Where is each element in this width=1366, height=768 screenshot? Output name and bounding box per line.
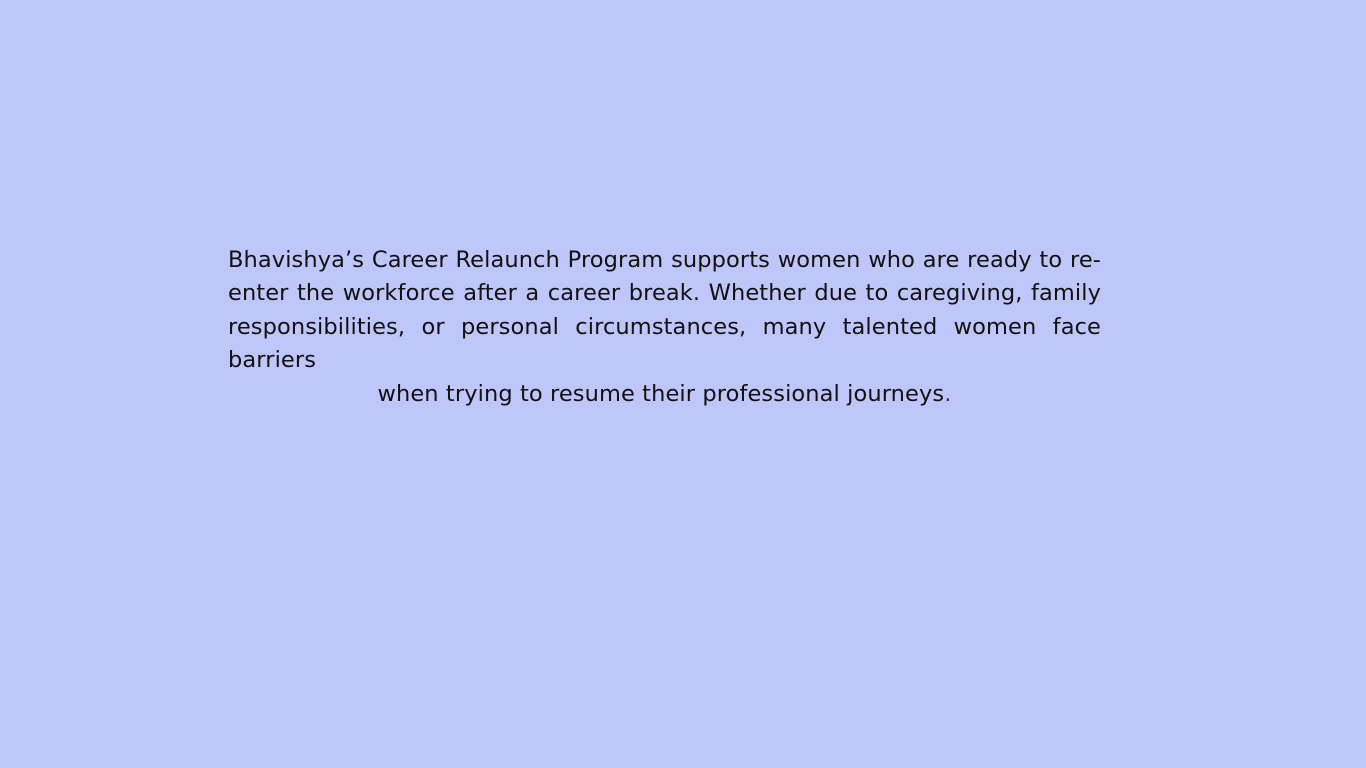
slide-canvas: Bhavishya’s Career Relaunch Program supp…: [0, 0, 1366, 768]
paragraph-justified-text: Bhavishya’s Career Relaunch Program supp…: [228, 247, 1108, 373]
body-paragraph: Bhavishya’s Career Relaunch Program supp…: [228, 244, 1101, 444]
paragraph-trailing-period: .: [944, 381, 951, 407]
paragraph-last-line: when trying to resume their professional…: [228, 378, 1101, 411]
paragraph-last-line-text: when trying to resume their professional…: [378, 381, 945, 407]
paragraph-block: Bhavishya’s Career Relaunch Program supp…: [228, 244, 1101, 444]
